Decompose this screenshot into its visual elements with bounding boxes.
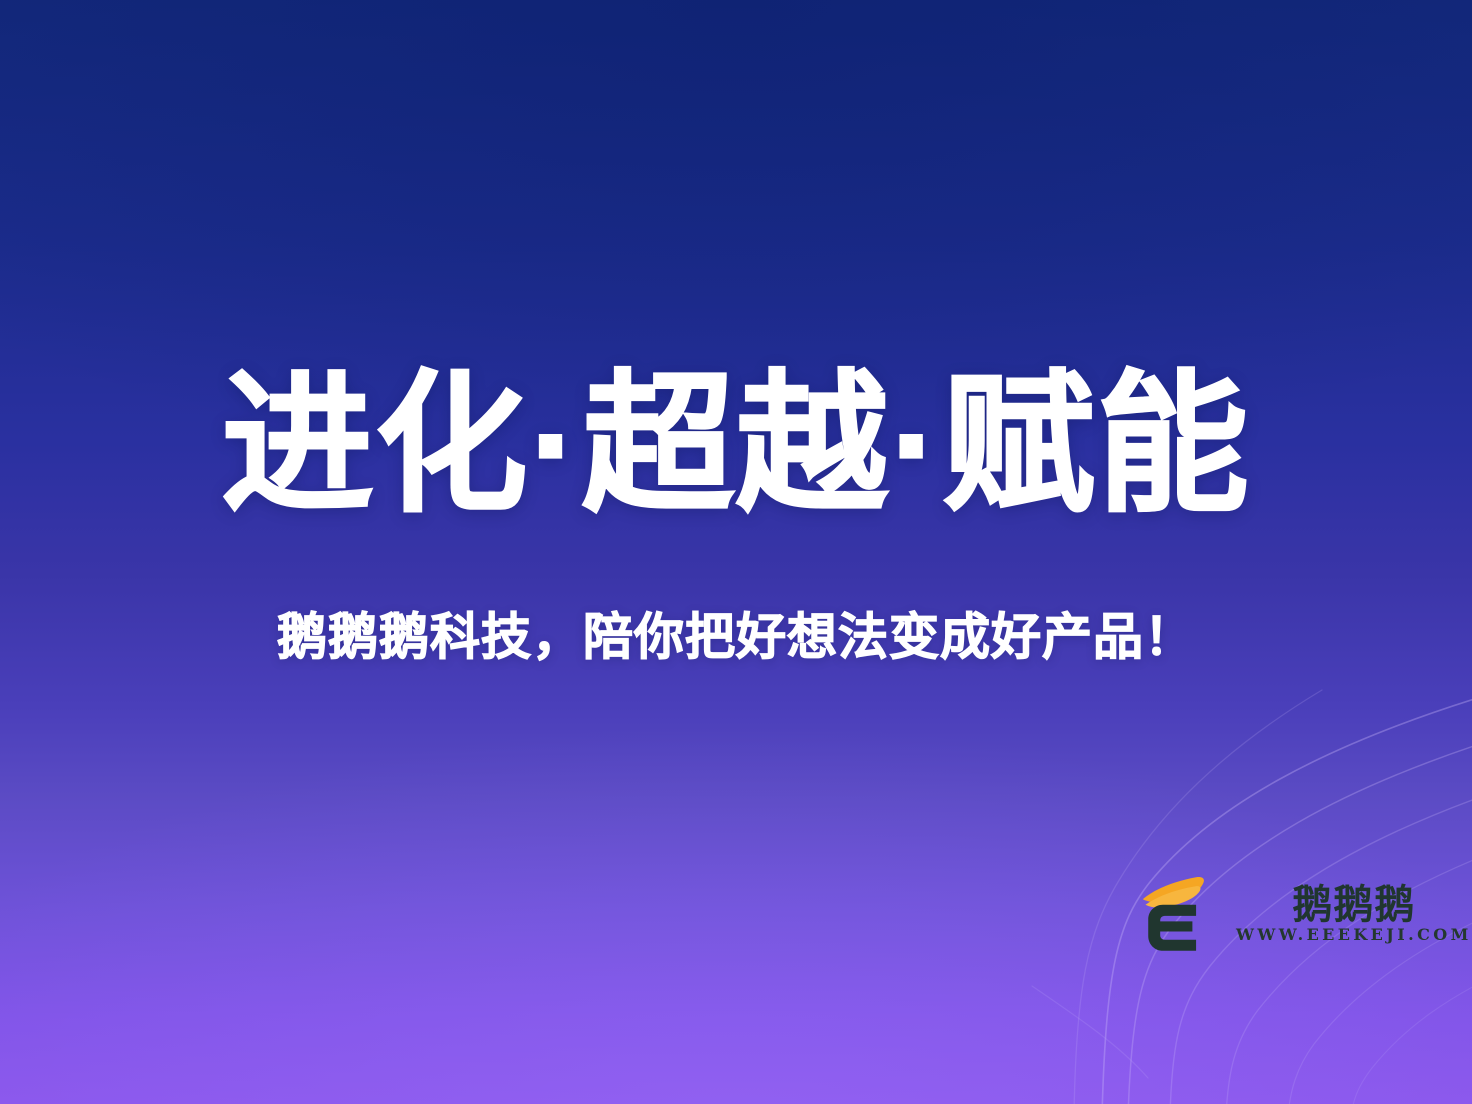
slide-headline: 进化·超越·赋能 [0,366,1472,524]
logo-website-url: WWW.EEEKEJI.COM [1236,927,1472,943]
presentation-slide: 进化·超越·赋能 鹅鹅鹅科技，陪你把好想法变成好产品！ 鹅鹅鹅 WWW.EEEK… [0,0,1472,1104]
logo-text-block: 鹅鹅鹅 WWW.EEEKEJI.COM [1236,885,1472,943]
logo-company-name: 鹅鹅鹅 [1292,885,1415,925]
logo-e-flame-icon [1128,868,1220,960]
brand-logo: 鹅鹅鹅 WWW.EEEKEJI.COM [1128,868,1472,960]
slide-subtitle: 鹅鹅鹅科技，陪你把好想法变成好产品！ [0,608,1472,667]
